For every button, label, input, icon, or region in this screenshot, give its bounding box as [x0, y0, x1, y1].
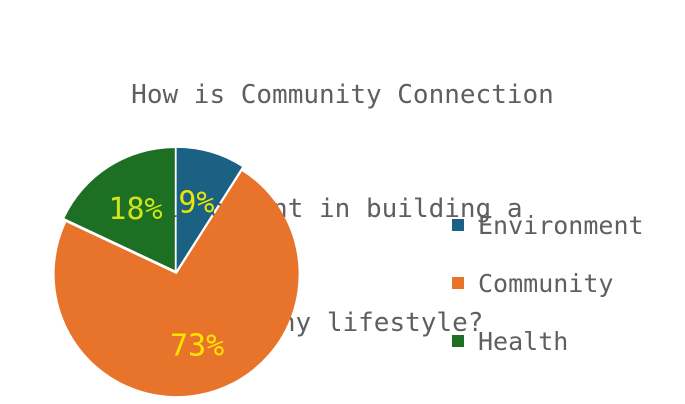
legend-swatch-community [452, 277, 464, 289]
legend-item-community[interactable]: Community [452, 254, 685, 312]
legend-item-environment[interactable]: Environment [452, 196, 685, 254]
chart-canvas: How is Community Connection important in… [0, 0, 685, 404]
pie-label-community: 73% [170, 329, 224, 364]
legend-label-health: Health [478, 329, 568, 354]
legend-swatch-environment [452, 219, 464, 231]
legend-swatch-health [452, 335, 464, 347]
legend-label-environment: Environment [478, 213, 644, 238]
pie-chart-svg: 9% 18% 73% [0, 122, 430, 404]
pie-label-health: 18% [108, 192, 162, 227]
chart-title-line-1: How is Community Connection [0, 76, 685, 114]
pie-label-environment: 9% [178, 186, 214, 221]
legend: Environment Community Health [452, 196, 685, 370]
legend-label-community: Community [478, 271, 613, 296]
pie-chart: 9% 18% 73% [0, 122, 430, 404]
legend-item-health[interactable]: Health [452, 312, 685, 370]
